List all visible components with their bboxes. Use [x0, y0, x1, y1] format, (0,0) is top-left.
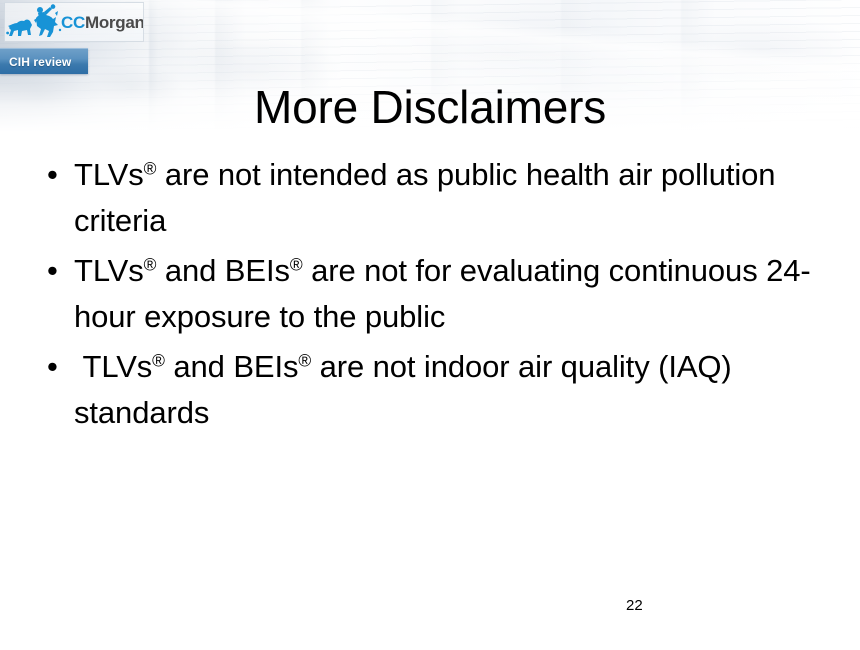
- bullet-list: •TLVs® are not intended as public health…: [40, 152, 830, 440]
- equestrian-hunt-emblem-icon: [6, 4, 62, 40]
- presentation-slide: CCMorgan CIH review More Disclaimers •TL…: [0, 0, 860, 650]
- bullet-text-run: and BEIs: [156, 253, 290, 288]
- bullet-text-run: TLVs: [74, 349, 152, 384]
- bullet-text-run: TLVs: [74, 157, 144, 192]
- bullet-item: • TLVs® and BEIs® are not indoor air qua…: [40, 344, 830, 436]
- registered-trademark-symbol: ®: [144, 254, 157, 274]
- bullet-text: TLVs® and BEIs® are not for evaluating c…: [74, 248, 830, 340]
- section-badge: CIH review: [0, 48, 88, 74]
- bullet-item: •TLVs® and BEIs® are not for evaluating …: [40, 248, 830, 340]
- wordmark-suffix: Morgan: [85, 13, 144, 32]
- bullet-marker-icon: •: [40, 152, 74, 198]
- bullet-text-run: are not intended as public health air po…: [74, 157, 784, 238]
- company-wordmark: CCMorgan: [61, 14, 144, 31]
- bullet-marker-icon: •: [40, 344, 74, 390]
- bullet-text: TLVs® and BEIs® are not indoor air quali…: [74, 344, 830, 436]
- bullet-text-run: and BEIs: [165, 349, 299, 384]
- page-number: 22: [626, 596, 666, 616]
- wordmark-prefix: CC: [61, 13, 85, 32]
- company-logo: CCMorgan: [4, 2, 144, 42]
- section-badge-label: CIH review: [0, 55, 71, 69]
- slide-title: More Disclaimers: [0, 79, 860, 135]
- bullet-item: •TLVs® are not intended as public health…: [40, 152, 830, 244]
- registered-trademark-symbol: ®: [152, 350, 165, 370]
- registered-trademark-symbol: ®: [290, 254, 303, 274]
- bullet-text: TLVs® are not intended as public health …: [74, 152, 830, 244]
- registered-trademark-symbol: ®: [144, 158, 157, 178]
- bullet-marker-icon: •: [40, 248, 74, 294]
- bullet-text-run: TLVs: [74, 253, 144, 288]
- registered-trademark-symbol: ®: [298, 350, 311, 370]
